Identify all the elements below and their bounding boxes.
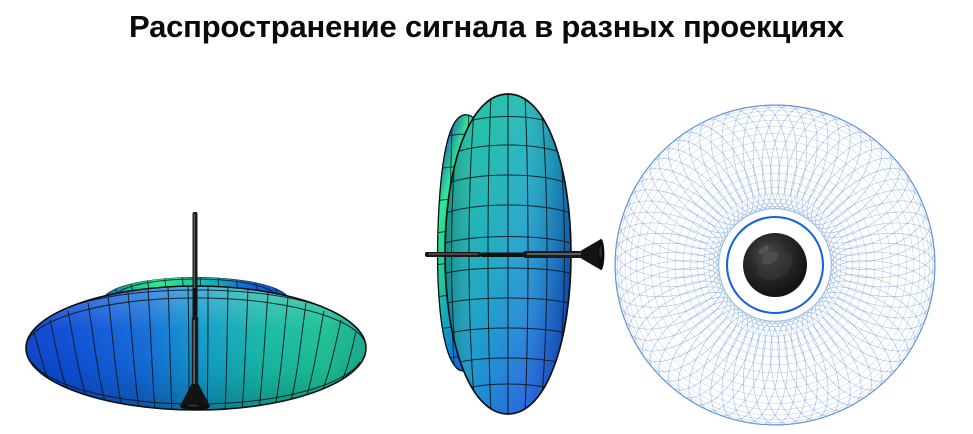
antenna-axial — [743, 233, 807, 297]
figure-page: Распространение сигнала в разных проекци… — [0, 0, 973, 434]
page-title: Распространение сигнала в разных проекци… — [0, 8, 973, 46]
figure-front-view — [395, 78, 620, 430]
figure-top-view — [612, 100, 942, 430]
figure-side-view — [10, 92, 370, 422]
